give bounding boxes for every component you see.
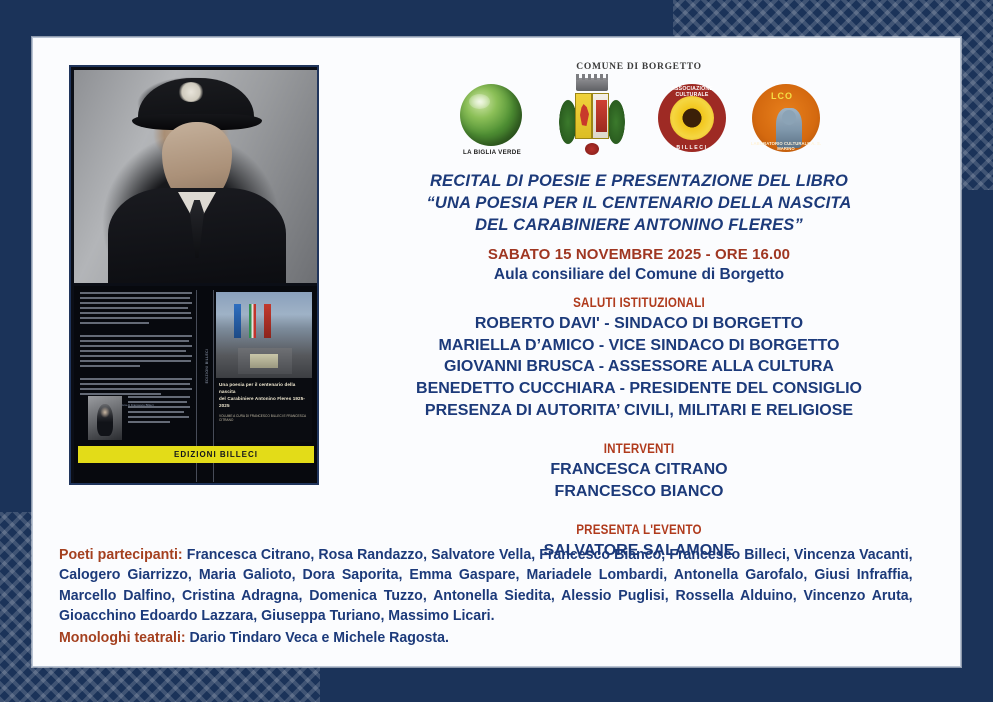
saluti-entry: BENEDETTO CUCCHIARA - PRESIDENTE DEL CON… — [333, 378, 945, 400]
content-column: COMUNE DI BORGETTO LA BIGLIA VERDE — [333, 62, 945, 566]
crown-icon — [576, 78, 608, 91]
publisher-band: EDIZIONI BILLECI — [78, 446, 314, 463]
saluti-istituzionali-section: SALUTI ISTITUZIONALI ROBERTO DAVI' - SIN… — [333, 295, 945, 421]
billeci-ring-bottom: BILLECI — [655, 145, 729, 151]
book-back-cover-panel: a cura di Francesco Billeci — [80, 292, 192, 442]
book-cover-spread: a cura di Francesco Billeci EDIZIONI BIL… — [74, 286, 318, 484]
presenta-heading: PRESENTA L'EVENTO — [376, 522, 902, 537]
shield-tower-icon — [592, 93, 609, 139]
wreath-bow-icon — [585, 143, 599, 155]
interventi-heading: INTERVENTI — [376, 441, 902, 456]
monument-plaque — [250, 354, 278, 368]
poets-label: Poeti partecipanti: — [59, 547, 183, 563]
event-headline: RECITAL DI POESIE E PRESENTAZIONE DEL LI… — [333, 171, 945, 236]
saluti-heading: SALUTI ISTITUZIONALI — [376, 295, 902, 310]
poster-card: a cura di Francesco Billeci EDIZIONI BIL… — [32, 37, 961, 667]
poets-list: Francesca Citrano, Rosa Randazzo, Salvat… — [59, 547, 913, 624]
italian-flag-icon — [249, 304, 256, 338]
carabiniere-portrait-photo — [74, 70, 318, 283]
headline-line-2: “UNA POESIA PER IL CENTENARIO DELLA NASC… — [333, 193, 945, 215]
saluti-entry: PRESENZA DI AUTORITA’ CIVILI, MILITARI E… — [333, 400, 945, 422]
comune-label: COMUNE DI BORGETTO — [333, 62, 945, 72]
headline-line-1: RECITAL DI POESIE E PRESENTAZIONE DEL LI… — [333, 171, 945, 193]
monument-ceremony-photo — [216, 292, 312, 378]
monologhi-label: Monologhi teatrali: — [59, 630, 186, 646]
logo-associazione-culturale-billeci: ASSOCIAZIONE CULTURALE BILLECI — [655, 82, 729, 156]
author-thumbnail-photo — [88, 396, 122, 440]
event-venue: Aula consiliare del Comune di Borgetto — [333, 266, 945, 284]
red-flag-icon — [264, 304, 271, 338]
interventi-entry: FRANCESCO BIANCO — [333, 481, 945, 503]
saluti-entry: MARIELLA D’AMICO - VICE SINDACO DI BORGE… — [333, 335, 945, 357]
logo-la-biglia-verde-label: LA BIGLIA VERDE — [455, 149, 529, 156]
book-title-line1: Una poesia per il centenario della nasci… — [219, 382, 309, 396]
coat-of-arms-shield — [575, 93, 609, 139]
laboratorio-ring-label: LABORATORIO CULTURALE A. S. MARINO — [749, 141, 823, 151]
interventi-section: INTERVENTI FRANCESCA CITRANO FRANCESCO B… — [333, 441, 945, 502]
logo-comune-di-borgetto-stemma — [549, 77, 635, 161]
green-marble-icon — [460, 84, 522, 146]
logo-laboratorio-culturale: LCO LABORATORIO CULTURALE A. S. MARINO — [749, 82, 823, 156]
laboratorio-ring-text: LABORATORIO CULTURALE A. S. MARINO — [749, 82, 823, 156]
participants-footer: Poeti partecipanti: Francesca Citrano, R… — [59, 545, 913, 648]
saluti-entry: GIOVANNI BRUSCA - ASSESSORE ALLA CULTURA — [333, 356, 945, 378]
billeci-ring-text: ASSOCIAZIONE CULTURALE BILLECI — [655, 82, 729, 156]
author-bio-text — [128, 396, 190, 426]
logos-row: LA BIGLIA VERDE ASSOCIAZI — [333, 77, 945, 161]
book-front-cover-panel: Una poesia per il centenario della nasci… — [216, 292, 312, 442]
event-date-time: SABATO 15 NOVEMBRE 2025 - ORE 16.00 — [333, 246, 945, 263]
publisher-name: EDIZIONI BILLECI — [174, 450, 314, 459]
interventi-entry: FRANCESCA CITRANO — [333, 459, 945, 481]
logo-la-biglia-verde: LA BIGLIA VERDE — [455, 82, 529, 156]
cap-badge-icon — [178, 82, 204, 102]
blue-flag-icon — [234, 304, 241, 338]
monologhi-paragraph: Monologhi teatrali: Dario Tindaro Veca e… — [59, 628, 913, 648]
poets-paragraph: Poeti partecipanti: Francesca Citrano, R… — [59, 545, 913, 627]
book-front-title-block: Una poesia per il centenario della nasci… — [219, 382, 309, 423]
headline-line-3: DEL CARABINIERE ANTONINO FLERES” — [333, 215, 945, 237]
book-subtitle: VOLUME A CURA DI FRANCESCO BILLECI E FRA… — [219, 414, 309, 423]
shield-lion-icon — [575, 93, 592, 139]
billeci-ring-top: ASSOCIAZIONE CULTURALE — [655, 86, 729, 98]
monologhi-list: Dario Tindaro Veca e Michele Ragosta. — [186, 630, 449, 646]
book-title-line2: del Carabiniere Antonino Fleres 1925-202… — [219, 396, 309, 410]
poster-background: a cura di Francesco Billeci EDIZIONI BIL… — [0, 0, 993, 702]
book-cover-image: a cura di Francesco Billeci EDIZIONI BIL… — [69, 65, 319, 485]
saluti-entry: ROBERTO DAVI' - SINDACO DI BORGETTO — [333, 313, 945, 335]
